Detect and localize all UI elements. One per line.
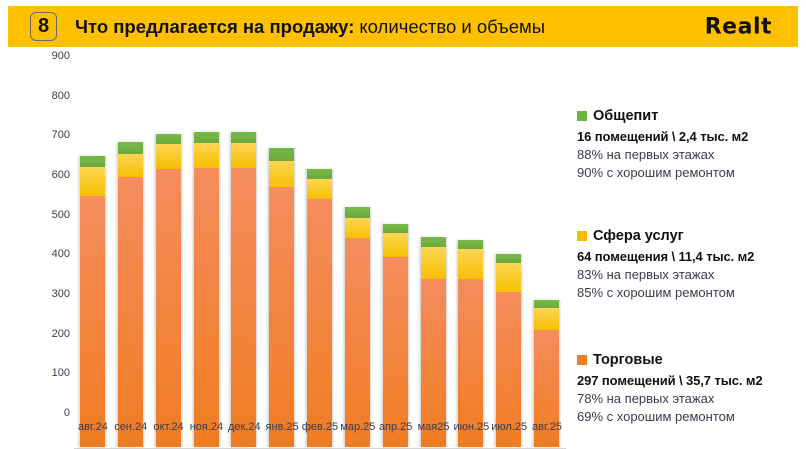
legend-main-stat: 64 помещения \ 11,4 тыс. м2 (577, 249, 803, 264)
bar-segment-food[interactable] (383, 224, 408, 234)
slide-number-badge: 8 (30, 12, 57, 41)
bar-slot (528, 90, 566, 447)
legend-block-food: Общепит 16 помещений \ 2,4 тыс. м2 88% н… (577, 108, 803, 183)
bar-segment-services[interactable] (307, 179, 332, 199)
page-title-rest: количество и объемы (359, 16, 545, 38)
bar-segment-food[interactable] (194, 132, 219, 144)
legend-block-retail: Торговые 297 помещений \ 35,7 тыс. м2 78… (577, 352, 803, 427)
bar-segment-services[interactable] (345, 218, 370, 238)
bar-segment-services[interactable] (383, 233, 408, 257)
bar-slot (112, 90, 150, 447)
bar-slot (263, 90, 301, 447)
legend-label: Общепит (593, 108, 658, 124)
bar-slot (225, 90, 263, 447)
bar-slot (150, 90, 188, 447)
bar-slot (188, 90, 226, 447)
bar-segment-retail[interactable] (231, 168, 256, 447)
legend-swatch-services-icon (577, 231, 587, 241)
bar-slot (301, 90, 339, 447)
bar-segment-services[interactable] (496, 263, 521, 291)
bar-segment-retail[interactable] (269, 187, 294, 447)
bar-segment-retail[interactable] (118, 177, 143, 447)
y-axis: 9008007006005004003002001000 (26, 55, 70, 449)
stacked-bar[interactable] (194, 132, 219, 447)
bar-segment-retail[interactable] (194, 168, 219, 447)
legend-sub-stat-1: 83% на первых этажах (577, 266, 803, 284)
legend-title: Торговые (577, 352, 803, 368)
page-header: 8 Что предлагается на продажу: количеств… (8, 6, 798, 47)
legend-swatch-retail-icon (577, 355, 587, 365)
bar-segment-services[interactable] (194, 143, 219, 168)
page-title: Что предлагается на продажу: количество … (75, 16, 545, 38)
bar-slot (415, 90, 453, 447)
legend-sub-stat-2: 69% с хорошим ремонтом (577, 408, 803, 426)
bar-segment-food[interactable] (118, 142, 143, 154)
bar-segment-services[interactable] (118, 154, 143, 177)
bar-segment-food[interactable] (269, 148, 294, 161)
legend-title: Сфера услуг (577, 228, 803, 244)
x-axis: авг.24сен.24окт.24ноя.24дек.24янв.25фев.… (74, 415, 566, 445)
bar-segment-food[interactable] (534, 300, 559, 308)
y-axis-tick: 700 (26, 129, 70, 141)
bar-slot (490, 90, 528, 447)
legend-sub-stat-1: 88% на первых этажах (577, 146, 803, 164)
legend-sub-stat-1: 78% на первых этажах (577, 390, 803, 408)
stacked-bar[interactable] (383, 224, 408, 447)
legend-label: Торговые (593, 352, 663, 368)
bar-segment-food[interactable] (458, 240, 483, 250)
bar-segment-food[interactable] (307, 169, 332, 179)
legend-sub-stat-2: 90% с хорошим ремонтом (577, 164, 803, 182)
bar-segment-retail[interactable] (80, 196, 105, 447)
bar-segment-retail[interactable] (307, 199, 332, 447)
stacked-bar[interactable] (118, 142, 143, 447)
bar-segment-food[interactable] (231, 132, 256, 144)
stacked-bar[interactable] (307, 169, 332, 447)
stacked-bar[interactable] (231, 132, 256, 447)
y-axis-tick: 200 (26, 328, 70, 340)
bar-segment-food[interactable] (421, 237, 446, 247)
brand-logo: Realt (705, 14, 772, 39)
y-axis-tick: 600 (26, 169, 70, 181)
bar-segment-food[interactable] (80, 156, 105, 167)
bar-segment-food[interactable] (156, 134, 181, 144)
legend-block-services: Сфера услуг 64 помещения \ 11,4 тыс. м2 … (577, 228, 803, 303)
bar-segment-food[interactable] (345, 207, 370, 217)
stacked-bar[interactable] (80, 156, 105, 447)
bar-segment-services[interactable] (269, 161, 294, 187)
bars-container (74, 55, 566, 449)
legend-label: Сфера услуг (593, 228, 684, 244)
y-axis-tick: 100 (26, 367, 70, 379)
bar-segment-services[interactable] (231, 143, 256, 168)
y-axis-tick: 500 (26, 209, 70, 221)
bar-segment-food[interactable] (496, 254, 521, 264)
y-axis-tick: 800 (26, 90, 70, 102)
bar-slot (339, 90, 377, 447)
legend-swatch-food-icon (577, 111, 587, 121)
y-axis-tick: 900 (26, 50, 70, 62)
bar-slot (74, 90, 112, 447)
y-axis-tick: 0 (26, 407, 70, 419)
bar-segment-services[interactable] (80, 167, 105, 196)
legend-sub-stat-2: 85% с хорошим ремонтом (577, 284, 803, 302)
stacked-bar[interactable] (269, 148, 294, 447)
bar-segment-services[interactable] (156, 144, 181, 169)
bar-segment-services[interactable] (534, 308, 559, 330)
bar-segment-services[interactable] (458, 249, 483, 279)
stacked-bar[interactable] (156, 134, 181, 447)
page-title-bold: Что предлагается на продажу: (75, 16, 354, 38)
legend-main-stat: 16 помещений \ 2,4 тыс. м2 (577, 129, 803, 144)
bar-segment-services[interactable] (421, 247, 446, 280)
y-axis-tick: 400 (26, 248, 70, 260)
x-axis-label: авг.25 (524, 421, 570, 433)
stacked-bar[interactable] (345, 207, 370, 447)
legend-main-stat: 297 помещений \ 35,7 тыс. м2 (577, 373, 803, 388)
y-axis-tick: 300 (26, 288, 70, 300)
legend-title: Общепит (577, 108, 803, 124)
bar-segment-retail[interactable] (156, 169, 181, 447)
bar-slot (377, 90, 415, 447)
bar-slot (452, 90, 490, 447)
